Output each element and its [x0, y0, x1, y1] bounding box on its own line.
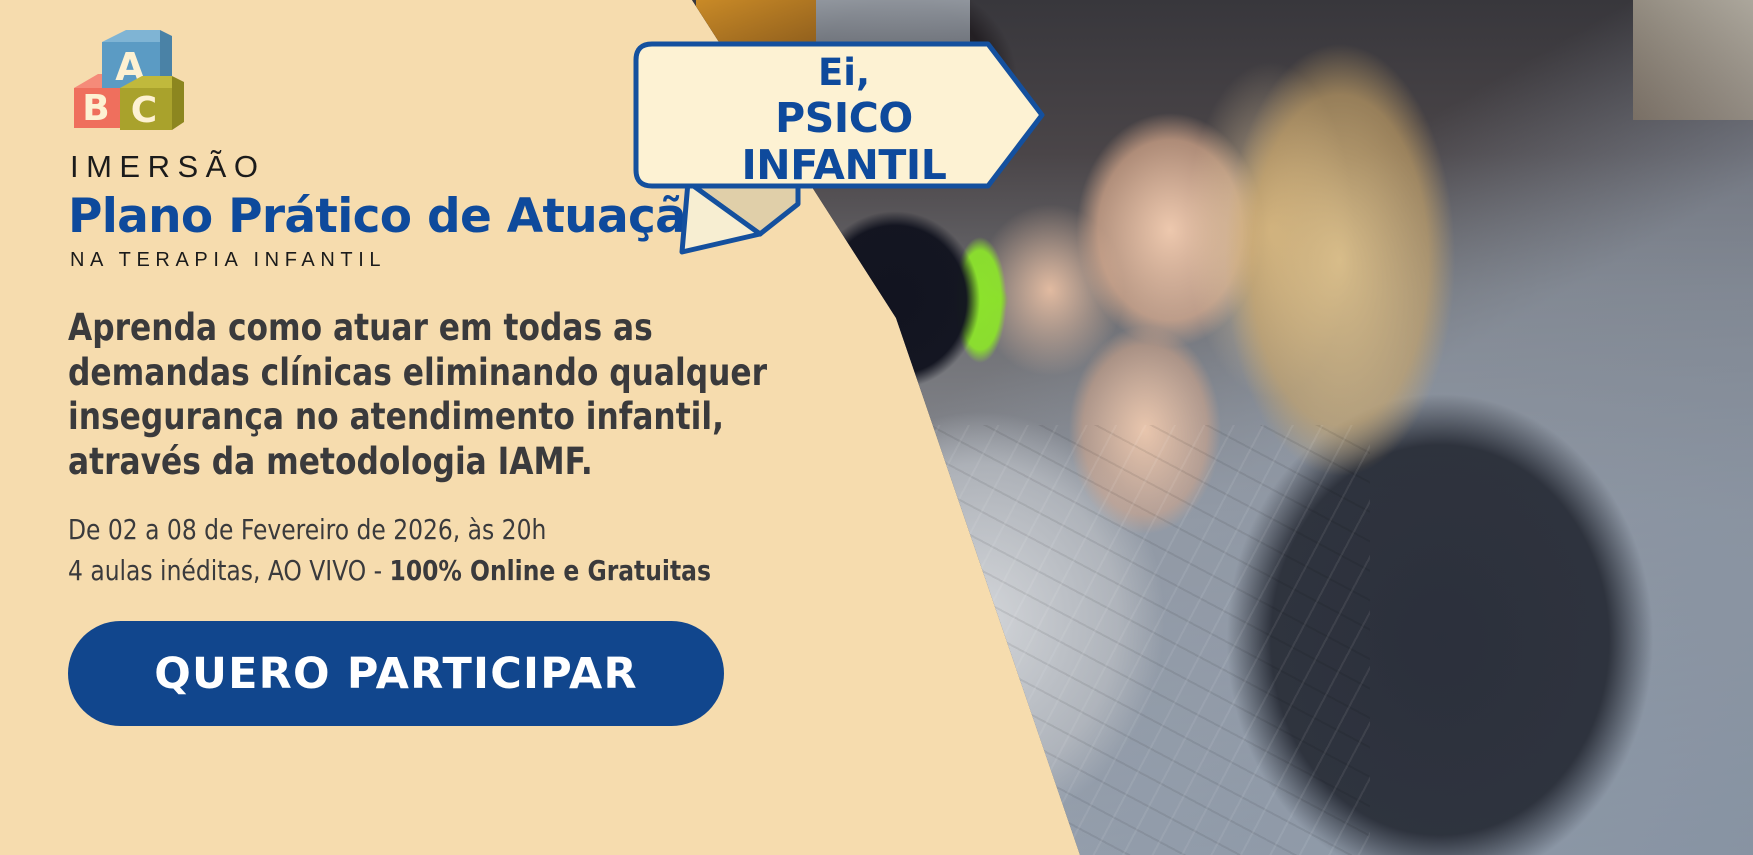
event-date-line: De 02 a 08 de Fevereiro de 2026, às 20h: [68, 510, 849, 551]
photo-window-light: [1633, 0, 1753, 120]
block-c-icon: C: [120, 76, 184, 131]
event-format-strong: 100% Online e Gratuitas: [390, 554, 711, 587]
speech-bubble[interactable]: Ei, PSICO INFANTIL: [630, 22, 1050, 312]
lead-line-3: insegurança no atendimento infantil,: [68, 395, 764, 439]
promo-banner: B A C IMERSÃO Plano Prático de: [0, 0, 1753, 855]
lead-line-1: Aprenda como atuar em todas as: [68, 306, 764, 350]
abc-blocks-logo: B A C: [68, 28, 186, 133]
event-details: De 02 a 08 de Fevereiro de 2026, às 20h …: [68, 510, 849, 591]
lead-line-4: através da metodologia IAMF.: [68, 440, 764, 484]
bubble-body: [636, 44, 1042, 186]
lead-line-2: demandas clínicas eliminando qualquer: [68, 351, 764, 395]
photo-floor-mat: [850, 425, 1370, 855]
svg-text:B: B: [82, 88, 109, 129]
quero-participar-button[interactable]: QUERO PARTICIPAR: [68, 621, 724, 726]
svg-text:C: C: [131, 90, 157, 131]
event-format-line: 4 aulas inéditas, AO VIVO - 100% Online …: [68, 551, 849, 592]
event-format-prefix: 4 aulas inéditas, AO VIVO -: [68, 554, 390, 587]
lead-paragraph: Aprenda como atuar em todas as demandas …: [68, 306, 764, 484]
